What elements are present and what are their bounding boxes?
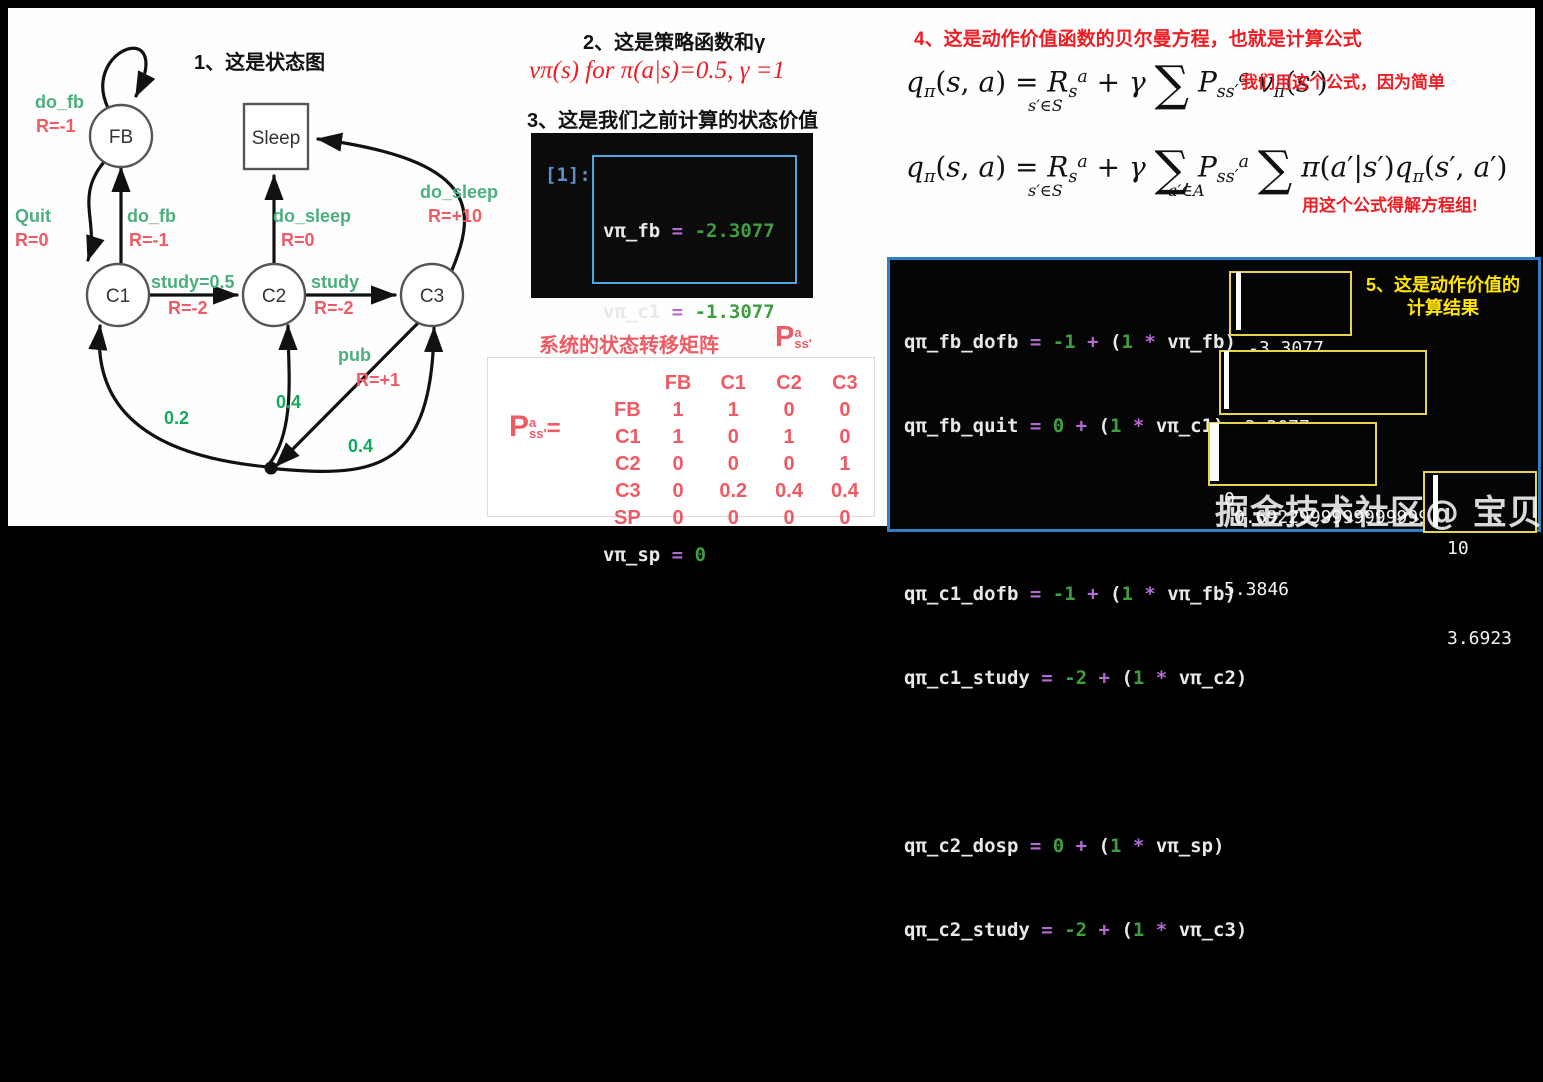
edge-label-c1-dofb-action: do_fb	[127, 206, 176, 227]
transition-matrix-panel: Pass'= FB C1 C2 C3 SP FB 1 1 0 0 0 C1 1	[487, 357, 875, 517]
state-diagram-svg: FB Sleep C1 C2 C3	[8, 8, 508, 526]
heading-section-5-line2: 计算结果	[1353, 297, 1533, 320]
matrix-cell-2-1: 0	[705, 451, 761, 478]
matrix-row-4-name: SP	[600, 505, 651, 532]
matrix-cell-4-0: 0	[651, 505, 706, 532]
q-result-box-0: -3.3077 -1.3077	[1229, 271, 1352, 336]
matrix-cell-3-0: 0	[651, 478, 706, 505]
edge-label-c2-dosleep-action: do_sleep	[273, 206, 351, 227]
screenshot-canvas: FB Sleep C1 C2 C3 do_fb R=-1 Quit R=0 do…	[0, 0, 1543, 541]
matrix-cell-4-3: 0	[817, 505, 873, 532]
edge-label-quit-action: Quit	[15, 206, 51, 227]
node-c1-label: C1	[106, 286, 130, 307]
table-row: C1 1 0 1 0 0	[600, 424, 927, 451]
edge-label-pub-action: pub	[338, 345, 371, 366]
bellman-equation-2: qπ(s, a) = Rsa + γ ∑ Pss′a ∑ π(a′|s′)qπ(…	[906, 141, 1507, 197]
matrix-cell-0-1: 1	[705, 397, 761, 424]
matrix-cell-2-3: 1	[817, 451, 873, 478]
edge-label-c2c3-action: study	[311, 272, 359, 293]
edge-label-quit-reward: R=0	[15, 230, 49, 251]
table-row: FB 1 1 0 0 0	[600, 397, 927, 424]
matrix-row-2-name: C2	[600, 451, 651, 478]
matrix-cell-3-3: 0.4	[817, 478, 873, 505]
matrix-col-2: C2	[761, 370, 817, 397]
slide-page: FB Sleep C1 C2 C3 do_fb R=-1 Quit R=0 do…	[8, 8, 1535, 526]
matrix-title-symbol: Pass'	[775, 321, 812, 354]
edge-label-c1c2-reward: R=-2	[168, 298, 208, 319]
edge-prob-02: 0.2	[164, 408, 189, 429]
matrix-cell-1-0: 1	[651, 424, 706, 451]
edge-prob-04-c2: 0.4	[276, 392, 301, 413]
table-row: C3 0 0.2 0.4 0.4 1	[600, 478, 927, 505]
matrix-cell-0-3: 0	[817, 397, 873, 424]
matrix-cell-2-0: 0	[651, 451, 706, 478]
q-result-3-1: 3.6923	[1447, 624, 1535, 654]
node-c2-label: C2	[262, 286, 286, 307]
matrix-row-3-name: C3	[600, 478, 651, 505]
edge-label-c2-dosleep-reward: R=0	[281, 230, 315, 251]
heading-section-4: 4、这是动作价值函数的贝尔曼方程，也就是计算公式	[914, 24, 1362, 51]
matrix-cell-4-1: 0	[705, 505, 761, 532]
node-sleep-label: Sleep	[252, 128, 301, 149]
matrix-header-row: FB C1 C2 C3 SP	[600, 370, 927, 397]
matrix-cell-0-0: 1	[651, 397, 706, 424]
matrix-cell-2-2: 0	[761, 451, 817, 478]
q-result-3-0: 10	[1447, 534, 1535, 564]
heading-section-2: 2、这是策略函数和γ	[583, 26, 765, 55]
q-result-box-2: 0 5.3846	[1208, 422, 1377, 486]
edge-label-c1-dofb-reward: R=-1	[129, 230, 169, 251]
note-solve-equations: 用这个公式得解方程组!	[1302, 191, 1478, 216]
q-code-gap-2	[904, 748, 1488, 776]
watermark: 掘金技术社区@ 宝贝儿好	[1215, 485, 1543, 534]
pub-junction-dot	[265, 462, 278, 475]
cell-prompt: [1]:	[545, 164, 591, 186]
node-c3-label: C3	[420, 286, 444, 307]
edge-label-pub-reward: R=+1	[356, 370, 400, 391]
heading-section-5: 5、这是动作价值的 计算结果	[1353, 274, 1533, 319]
matrix-cell-1-2: 1	[761, 424, 817, 451]
edge-label-c2c3-reward: R=-2	[314, 298, 354, 319]
matrix-cell-1-1: 0	[705, 424, 761, 451]
table-row: SP 0 0 0 0 1	[600, 505, 927, 532]
bellman-1-sum-limit: s′∈S	[1028, 96, 1063, 115]
q-code-line-4: qπ_c1_study = -2 + (1 * vπ_c2)	[904, 664, 1488, 692]
heading-section-1: 1、这是状态图	[194, 46, 325, 75]
heading-section-3: 3、这是我们之前计算的状态价值	[527, 104, 818, 133]
matrix-symbol-p: P	[775, 321, 794, 353]
state-value-output-cell: [1]: vπ_fb = -2.3077 vπ_c1 = -1.3077 vπ_…	[531, 133, 813, 298]
table-row: C2 0 0 0 1 1	[600, 451, 927, 478]
state-value-line-1: vπ_c1 = -1.3077	[603, 299, 795, 326]
state-value-code-box: vπ_fb = -2.3077 vπ_c1 = -1.3077 vπ_c2 = …	[592, 155, 797, 284]
bellman-2-sum-limit-s: s′∈S	[1028, 181, 1063, 200]
edge-prob-04-c3: 0.4	[348, 436, 373, 457]
note-use-this-formula: 我们用这个公式，因为简单	[1241, 68, 1445, 93]
matrix-col-3: C3	[817, 370, 873, 397]
matrix-cell-0-2: 0	[761, 397, 817, 424]
matrix-col-0: FB	[651, 370, 706, 397]
matrix-col-1: C1	[705, 370, 761, 397]
policy-formula: vπ(s) for π(a|s)=0.5, γ =1	[529, 57, 785, 85]
matrix-title: 系统的状态转移矩阵	[539, 329, 719, 358]
matrix-symbol-sub: ss'	[794, 338, 812, 349]
bellman-2-sum-limit-a: a′∈A	[1168, 181, 1205, 200]
transition-matrix-table: FB C1 C2 C3 SP FB 1 1 0 0 0 C1 1 0 1 0 0	[600, 370, 927, 532]
matrix-cell-3-2: 0.4	[761, 478, 817, 505]
state-value-line-4: vπ_sp = 0	[603, 542, 795, 569]
matrix-row-0-name: FB	[600, 397, 651, 424]
node-fb-label: FB	[109, 127, 133, 148]
q-result-2-1: 5.3846	[1224, 575, 1375, 605]
state-diagram: FB Sleep C1 C2 C3 do_fb R=-1 Quit R=0 do…	[8, 8, 508, 526]
edge-label-fb-dofb-reward: R=-1	[36, 116, 76, 137]
edge-label-c3-dosleep-action: do_sleep	[420, 182, 498, 203]
edge-label-c1c2-action: study=0.5	[151, 272, 235, 293]
matrix-cell-3-1: 0.2	[705, 478, 761, 505]
heading-section-5-line1: 5、这是动作价值的	[1353, 274, 1533, 297]
state-value-line-0: vπ_fb = -2.3077	[603, 218, 795, 245]
q-code-line-7: qπ_c2_study = -2 + (1 * vπ_c3)	[904, 916, 1488, 944]
q-value-panel: qπ_fb_dofb = -1 + (1 * vπ_fb) qπ_fb_quit…	[887, 257, 1541, 532]
matrix-cell-1-3: 0	[817, 424, 873, 451]
matrix-equation-label: Pass'=	[509, 410, 561, 444]
matrix-row-1-name: C1	[600, 424, 651, 451]
q-result-box-1: -3.3077 0.6922999999999999	[1219, 350, 1427, 415]
edge-label-c3-dosleep-reward: R=+10	[428, 206, 482, 227]
matrix-cell-4-2: 0	[761, 505, 817, 532]
q-code-line-6: qπ_c2_dosp = 0 + (1 * vπ_sp)	[904, 832, 1488, 860]
q-code-gap-3	[904, 1000, 1488, 1028]
edge-label-fb-dofb-action: do_fb	[35, 92, 84, 113]
